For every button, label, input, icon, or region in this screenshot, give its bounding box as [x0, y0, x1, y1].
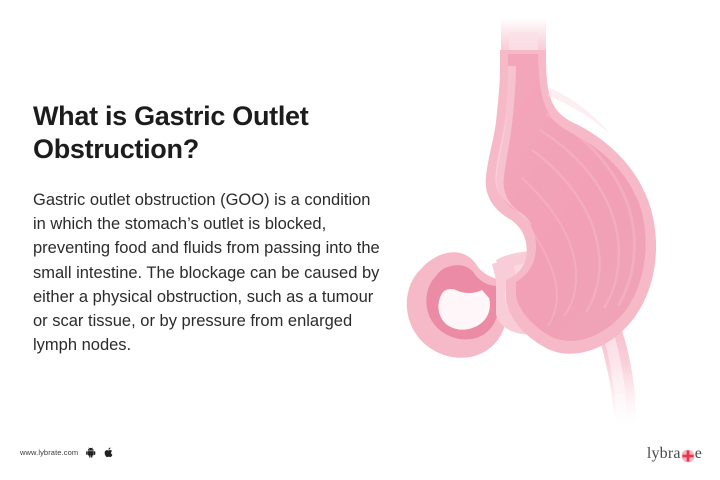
stomach-body-icon — [486, 50, 656, 354]
footer-left: www.lybrate.com — [20, 447, 114, 458]
page-title: What is Gastric Outlet Obstruction? — [33, 100, 373, 166]
brand-name-suffix: e — [695, 446, 702, 462]
article-body-text: Gastric outlet obstruction (GOO) is a co… — [33, 188, 385, 357]
stomach-anatomy-illustration — [396, 18, 716, 428]
apple-logo-icon[interactable] — [103, 447, 114, 458]
infographic-page: What is Gastric Outlet Obstruction? Gast… — [0, 0, 720, 480]
brand-name-prefix: lybra — [647, 446, 681, 462]
medical-cross-circle-icon — [681, 449, 695, 463]
android-robot-icon[interactable] — [85, 447, 96, 458]
brand-logo[interactable]: lybra e — [647, 446, 702, 462]
text-column: What is Gastric Outlet Obstruction? Gast… — [33, 100, 393, 357]
website-url[interactable]: www.lybrate.com — [20, 448, 78, 457]
